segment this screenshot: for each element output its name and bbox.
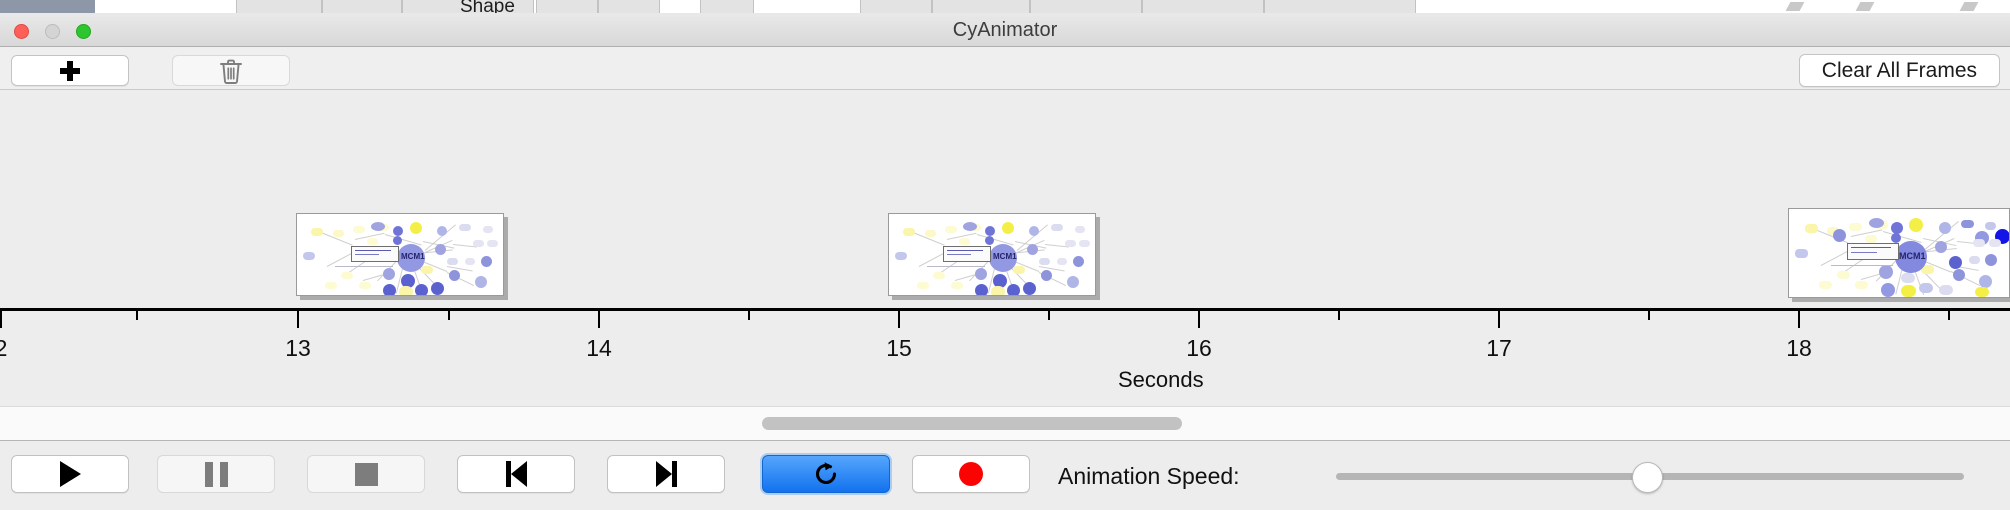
- timeline-panel[interactable]: MCM1: [0, 90, 2010, 406]
- axis-tick-label: 13: [277, 335, 319, 362]
- axis-tick-minor: [1048, 311, 1050, 320]
- pause-button[interactable]: [157, 455, 275, 493]
- skip-forward-button[interactable]: [607, 455, 725, 493]
- skip-back-icon: [506, 461, 527, 487]
- hub-node-label: MCM1: [1899, 251, 1926, 261]
- timeline-track: MCM1: [0, 90, 2010, 406]
- record-button[interactable]: [912, 455, 1030, 493]
- scrollbar-thumb[interactable]: [762, 417, 1182, 430]
- axis-tick-major: [0, 311, 2, 328]
- axis-tick-label: 18: [1778, 335, 1820, 362]
- axis-tick-minor: [136, 311, 138, 320]
- network-preview: MCM1: [297, 214, 503, 295]
- background-window-strip: Shape: [0, 0, 2010, 14]
- network-preview: MCM1: [1789, 209, 2009, 297]
- hub-node-label: MCM1: [401, 252, 425, 261]
- timeline-axis: [0, 308, 2010, 311]
- network-preview: MCM1: [889, 214, 1095, 295]
- playback-control-bar: Animation Speed:: [0, 440, 2010, 510]
- pause-icon: [205, 462, 228, 487]
- axis-tick-major: [598, 311, 600, 328]
- toolbar: Clear All Frames: [0, 47, 2010, 90]
- window-title: CyAnimator: [0, 13, 2010, 47]
- loop-icon: [811, 459, 841, 489]
- axis-title: Seconds: [1118, 367, 1204, 393]
- plus-icon: [60, 61, 80, 81]
- delete-frame-button[interactable]: [172, 55, 290, 86]
- trash-icon: [218, 57, 244, 85]
- axis-tick-minor: [1948, 311, 1950, 320]
- axis-tick-label: 16: [1178, 335, 1220, 362]
- stop-button[interactable]: [307, 455, 425, 493]
- axis-tick-major: [1198, 311, 1200, 328]
- axis-tick-major: [297, 311, 299, 328]
- clear-all-frames-button[interactable]: Clear All Frames: [1799, 54, 2000, 87]
- axis-tick-major: [1798, 311, 1800, 328]
- axis-tick-label: 15: [878, 335, 920, 362]
- animation-speed-slider-thumb[interactable]: [1632, 462, 1663, 493]
- play-icon: [60, 461, 81, 487]
- background-window-label: Shape: [460, 0, 515, 14]
- skip-forward-icon: [656, 461, 677, 487]
- axis-tick-label: 17: [1478, 335, 1520, 362]
- loop-button[interactable]: [762, 455, 890, 493]
- skip-back-button[interactable]: [457, 455, 575, 493]
- play-button[interactable]: [11, 455, 129, 493]
- stop-icon: [355, 463, 378, 486]
- frame-thumbnail[interactable]: MCM1: [1788, 208, 2010, 298]
- axis-tick-label: 2: [0, 335, 16, 362]
- axis-tick-major: [898, 311, 900, 328]
- axis-tick-minor: [1648, 311, 1650, 320]
- title-bar: CyAnimator: [0, 13, 2010, 47]
- record-icon: [959, 462, 983, 486]
- timeline-scrollbar[interactable]: [0, 406, 2010, 440]
- background-tab-strip: [0, 0, 2010, 13]
- frame-thumbnail[interactable]: MCM1: [888, 213, 1096, 296]
- hub-node-label: MCM1: [993, 252, 1017, 261]
- axis-tick-minor: [448, 311, 450, 320]
- axis-tick-minor: [1338, 311, 1340, 320]
- add-frame-button[interactable]: [11, 55, 129, 86]
- animation-speed-label: Animation Speed:: [1058, 441, 1240, 510]
- frame-thumbnail[interactable]: MCM1: [296, 213, 504, 296]
- axis-tick-major: [1498, 311, 1500, 328]
- cyanimator-window: Shape CyAnimator Clear All Frames: [0, 0, 2010, 510]
- axis-tick-minor: [748, 311, 750, 320]
- axis-tick-label: 14: [578, 335, 620, 362]
